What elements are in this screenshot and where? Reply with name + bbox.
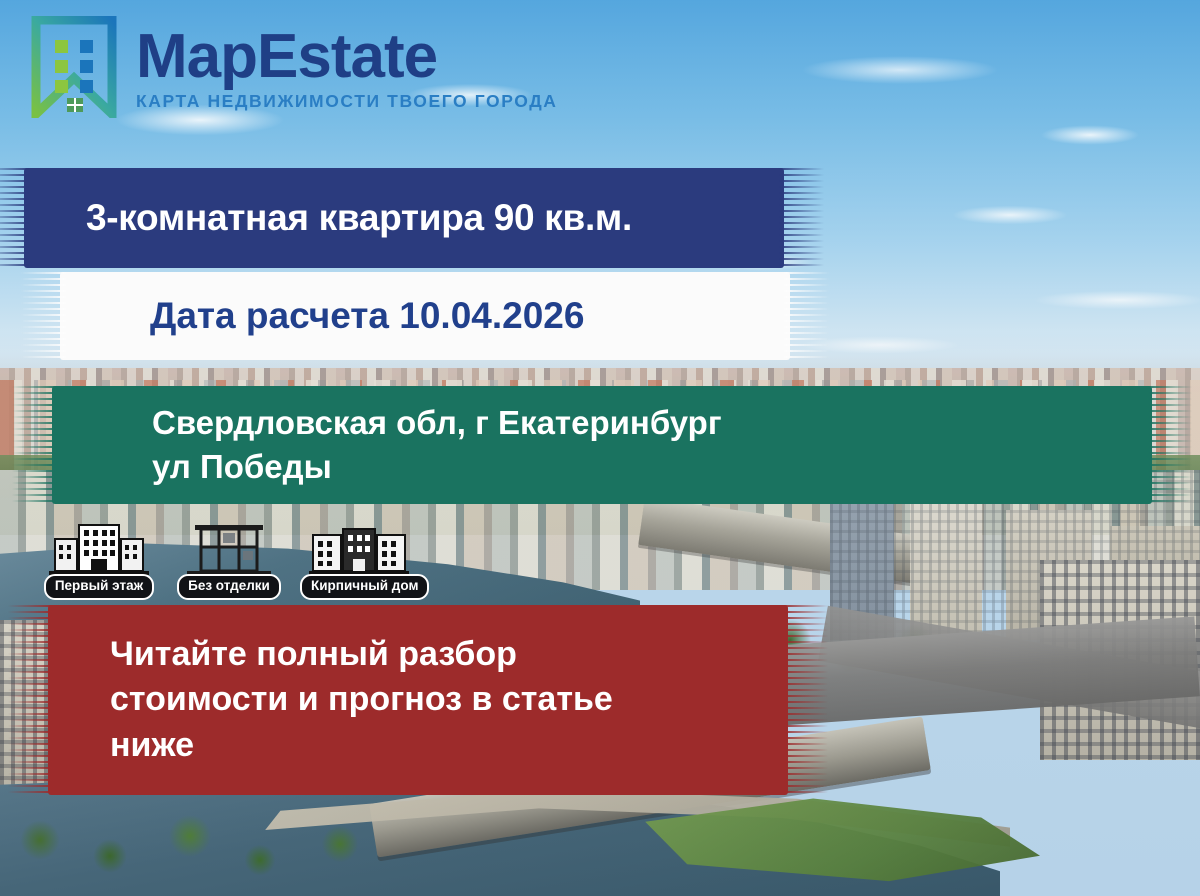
address-line-region: Свердловская обл, г Екатеринбург (152, 401, 1152, 445)
cta-line-2: стоимости и прогноз в статье (110, 677, 768, 722)
brush-fringe-right (778, 168, 824, 268)
feature-label: Первый этаж (44, 574, 154, 600)
feature-badges: Первый этаж (40, 520, 420, 600)
feature-no-finishing: Без отделки (170, 521, 288, 600)
address-line-street: ул Победы (152, 445, 1152, 489)
park-trees-lower (0, 800, 420, 896)
address-banner: Свердловская обл, г Екатеринбург ул Побе… (52, 386, 1152, 504)
brand-text: MapEstate КАРТА НЕДВИЖИМОСТИ ТВОЕГО ГОРО… (136, 28, 558, 110)
calculation-date-text: Дата расчета 10.04.2026 (60, 272, 790, 360)
brand-name: MapEstate (136, 28, 558, 87)
calculation-date-banner: Дата расчета 10.04.2026 (60, 272, 790, 360)
feature-brick-house: Кирпичный дом (300, 521, 418, 600)
brush-fringe-right (1146, 386, 1192, 504)
cta-line-3: ниже (110, 723, 768, 768)
promo-poster: MapEstate КАРТА НЕДВИЖИМОСТИ ТВОЕГО ГОРО… (0, 0, 1200, 896)
apartment-building-icon (40, 521, 158, 577)
brick-house-icon (300, 521, 418, 577)
map-pin-building-icon (30, 16, 118, 123)
cta-line-1: Читайте полный разбор (110, 632, 768, 677)
cta-text: Читайте полный разбор стоимости и прогно… (48, 605, 788, 795)
brand-header: MapEstate КАРТА НЕДВИЖИМОСТИ ТВОЕГО ГОРО… (30, 16, 558, 123)
property-title-banner: 3-комнатная квартира 90 кв.м. (24, 168, 784, 268)
feature-first-floor: Первый этаж (40, 521, 158, 600)
brush-fringe-right (784, 272, 830, 360)
feature-label: Кирпичный дом (300, 574, 429, 600)
address-text: Свердловская обл, г Екатеринбург ул Побе… (52, 386, 1152, 504)
property-title-text: 3-комнатная квартира 90 кв.м. (24, 168, 784, 268)
bare-frame-structure-icon (170, 521, 288, 577)
brush-fringe-right (782, 605, 828, 795)
brand-tagline: КАРТА НЕДВИЖИМОСТИ ТВОЕГО ГОРОДА (136, 93, 558, 111)
feature-label: Без отделки (177, 574, 281, 600)
cta-banner: Читайте полный разбор стоимости и прогно… (48, 605, 788, 795)
